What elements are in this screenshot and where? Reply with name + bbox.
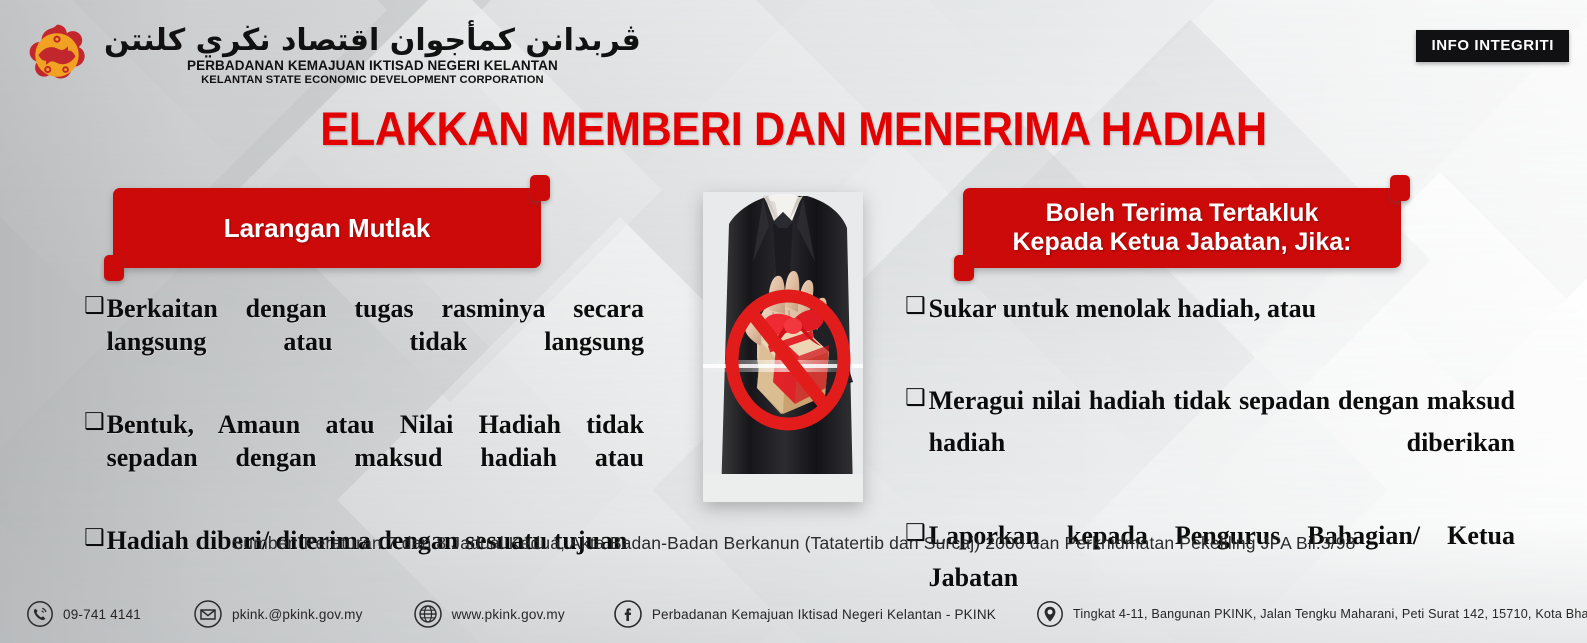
list-item: ❑ Meragui nilai hadiah tidak sepadan den… (905, 380, 1515, 506)
right-banner-line-2: Kepada Ketua Jabatan, Jika: (1012, 228, 1351, 256)
contact-website[interactable]: www.pkink.gov.my (413, 599, 565, 629)
checkbox-bullet-icon: ❑ (905, 380, 926, 506)
poster-canvas: ڤربدانن كمأجوان اقتصاد نڬري كلنتن PERBAD… (0, 0, 1587, 643)
right-banner-line-1: Boleh Terima Tertakluk (1046, 199, 1319, 227)
list-item-text: Berkaitan dengan tugas rasminya secara l… (107, 292, 644, 392)
footer-contact-bar: 09-741 4141 pkink.@pkink.gov.my www.pkin… (0, 585, 1587, 643)
ribbon-nub-bottom-left (954, 255, 974, 281)
contact-address-label: Tingkat 4-11, Bangunan PKINK, Jalan Teng… (1073, 607, 1587, 621)
info-integriti-badge: INFO INTEGRITI (1416, 30, 1569, 62)
globe-icon (413, 599, 443, 629)
contact-facebook-label: Perbadanan Kemajuan Iktisad Negeri Kelan… (652, 607, 996, 622)
page-title: ELAKKAN MEMBERI DAN MENERIMA HADIAH (63, 101, 1523, 156)
ribbon-nub-top-right (530, 175, 550, 201)
left-banner-label: Larangan Mutlak (224, 213, 431, 244)
center-illustration (703, 192, 863, 502)
organization-name-jawi: ڤربدانن كمأجوان اقتصاد نڬري كلنتن (104, 24, 641, 58)
pkink-flower-emblem-icon (24, 22, 90, 88)
contact-website-label: www.pkink.gov.my (452, 607, 565, 622)
list-item: ❑ Berkaitan dengan tugas rasminya secara… (84, 292, 644, 392)
organization-names: ڤربدانن كمأجوان اقتصاد نڬري كلنتن PERBAD… (104, 24, 641, 87)
list-item-text: Sukar untuk menolak hadiah, atau (929, 288, 1317, 372)
ribbon-nub-bottom-left (104, 255, 124, 281)
left-panel-banner: Larangan Mutlak (113, 188, 541, 268)
contact-phone-label: 09-741 4141 (63, 607, 141, 622)
right-banner-text: Boleh Terima Tertakluk Kepada Ketua Jaba… (1012, 199, 1351, 258)
contact-facebook[interactable]: Perbadanan Kemajuan Iktisad Negeri Kelan… (613, 599, 996, 629)
list-item: ❑ Sukar untuk menolak hadiah, atau (905, 288, 1515, 372)
list-item-text: Meragui nilai hadiah tidak sepadan denga… (929, 380, 1515, 506)
contact-phone[interactable]: 09-741 4141 (26, 600, 141, 628)
organization-name-english: KELANTAN STATE ECONOMIC DEVELOPMENT CORP… (201, 74, 544, 86)
ribbon-nub-top-right (1390, 175, 1410, 201)
envelope-icon (193, 599, 223, 629)
right-panel-banner: Boleh Terima Tertakluk Kepada Ketua Jaba… (963, 188, 1401, 268)
source-reference-text: Sumber: Peraturan 7 dan 8 Jadual Kedua, … (0, 533, 1587, 554)
map-pin-icon (1036, 600, 1064, 628)
phone-icon (26, 600, 54, 628)
checkbox-bullet-icon: ❑ (84, 408, 105, 508)
list-item-text: Bentuk, Amaun atau Nilai Hadiah tidak se… (107, 408, 644, 508)
checkbox-bullet-icon: ❑ (84, 292, 105, 392)
organization-name-malay: PERBADANAN KEMAJUAN IKTISAD NEGERI KELAN… (187, 58, 558, 73)
contact-address[interactable]: Tingkat 4-11, Bangunan PKINK, Jalan Teng… (1036, 600, 1587, 628)
contact-email[interactable]: pkink.@pkink.gov.my (193, 599, 363, 629)
businessman-refusing-gift-prohibition-icon (703, 192, 863, 502)
left-bullet-list: ❑ Berkaitan dengan tugas rasminya secara… (84, 292, 644, 606)
checkbox-bullet-icon: ❑ (905, 288, 926, 372)
facebook-icon (613, 599, 643, 629)
list-item: ❑ Bentuk, Amaun atau Nilai Hadiah tidak … (84, 408, 644, 508)
organization-logo-block: ڤربدانن كمأجوان اقتصاد نڬري كلنتن PERBAD… (24, 22, 641, 88)
contact-email-label: pkink.@pkink.gov.my (232, 607, 363, 622)
